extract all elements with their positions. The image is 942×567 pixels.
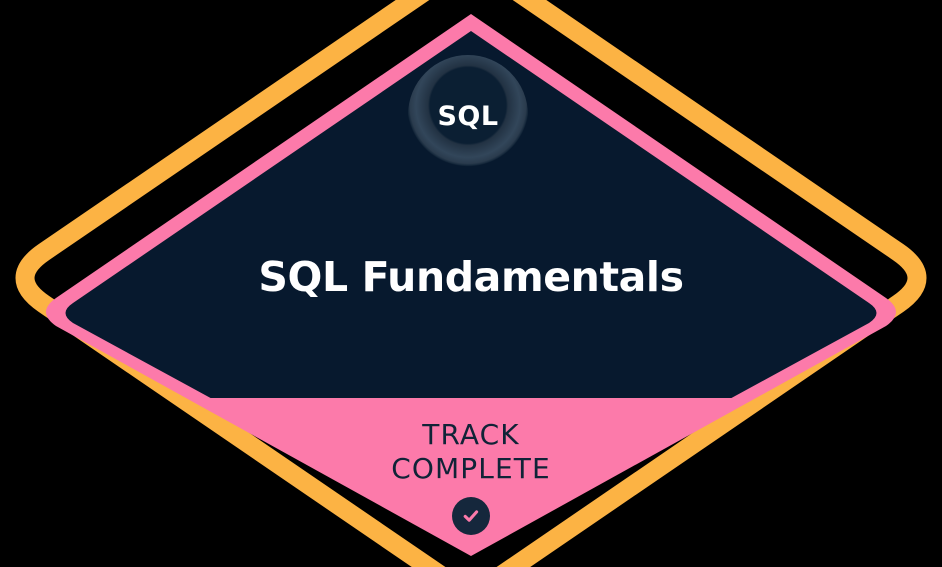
badge-shape-layer: [0, 0, 942, 567]
track-completion-badge: SQL SQL Fundamentals TRACK COMPLETE: [0, 0, 942, 567]
